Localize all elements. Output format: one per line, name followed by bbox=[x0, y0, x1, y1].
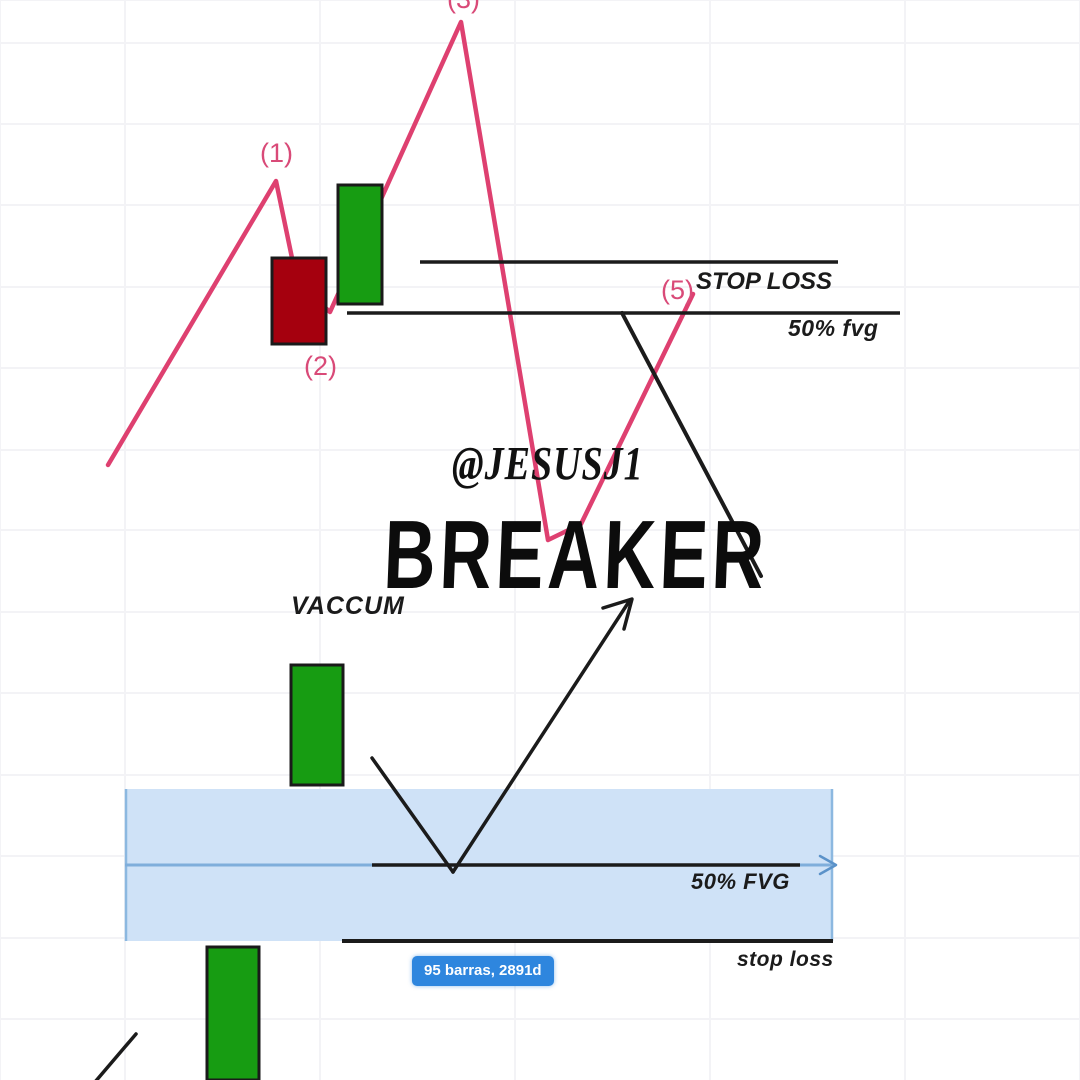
stop-loss-label-lower: stop loss bbox=[737, 949, 834, 970]
fvg-label-lower: 50% FVG bbox=[691, 871, 790, 893]
bars-info-badge[interactable]: 95 barras, 2891d bbox=[412, 956, 554, 986]
watermark-title: BREAKER bbox=[382, 500, 770, 611]
candle-bullish-lower-bottom bbox=[207, 947, 259, 1080]
wave-label-2: (2) bbox=[304, 353, 337, 380]
stop-loss-label-upper: STOP LOSS bbox=[696, 270, 832, 294]
candle-bearish-upper bbox=[272, 258, 326, 344]
vaccum-label: VACCUM bbox=[291, 594, 405, 619]
wave-label-3: (3) bbox=[447, 0, 480, 13]
candle-bullish-upper bbox=[338, 185, 382, 304]
candle-bullish-lower-vaccum bbox=[291, 665, 343, 785]
fvg-label-upper: 50% fvg bbox=[788, 317, 878, 340]
chart-screenshot-root: (1) (3) (2) (5) STOP LOSS 50% fvg @JESUS… bbox=[0, 0, 1080, 1080]
wave-label-5: (5) bbox=[661, 277, 694, 304]
wave-label-1: (1) bbox=[260, 140, 293, 167]
watermark-handle: @JESUSJ1 bbox=[452, 437, 644, 492]
